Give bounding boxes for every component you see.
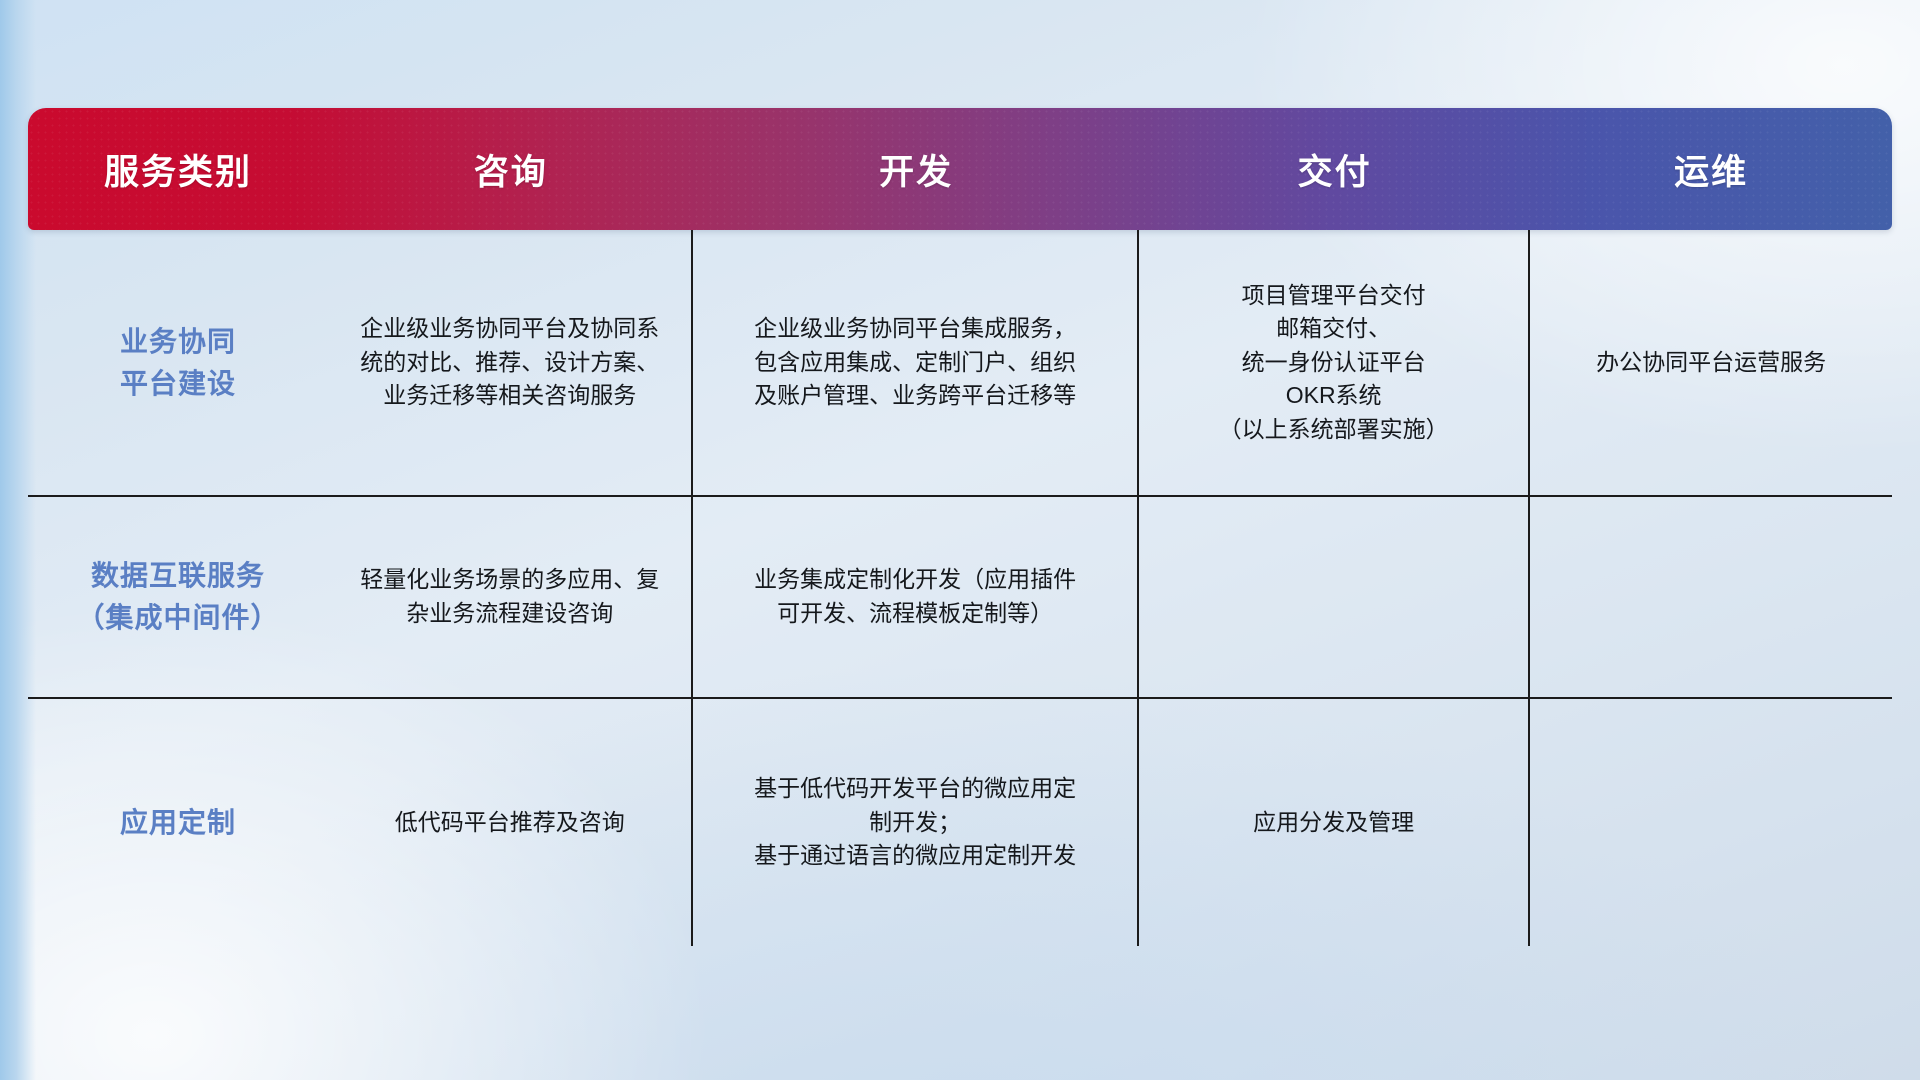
cell-development: 企业级业务协同平台集成服务， 包含应用集成、定制门户、组织 及账户管理、业务跨平… [693,230,1138,495]
cell-consulting: 低代码平台推荐及咨询 [328,699,693,946]
table-body: 业务协同 平台建设 企业级业务协同平台及协同系 统的对比、推荐、设计方案、 业务… [28,230,1892,946]
cell-consulting: 企业级业务协同平台及协同系 统的对比、推荐、设计方案、 业务迁移等相关咨询服务 [328,230,693,495]
row-category-label: 应用定制 [28,699,328,946]
table-header-row: 服务类别 咨询 开发 交付 运维 [28,108,1892,230]
table-row: 数据互联服务 （集成中间件） 轻量化业务场景的多应用、复 杂业务流程建设咨询 业… [28,497,1892,699]
header-cell-service-category: 服务类别 [28,144,328,195]
header-cell-consulting: 咨询 [328,144,693,195]
cell-development: 业务集成定制化开发（应用插件 可开发、流程模板定制等） [693,497,1138,697]
cell-delivery: 应用分发及管理 [1139,699,1530,946]
cell-delivery: 项目管理平台交付 邮箱交付、 统一身份认证平台 OKR系统 （以上系统部署实施） [1139,230,1530,495]
row-category-label: 业务协同 平台建设 [28,230,328,495]
header-cell-development: 开发 [693,144,1138,195]
cell-consulting: 轻量化业务场景的多应用、复 杂业务流程建设咨询 [328,497,693,697]
table-row: 业务协同 平台建设 企业级业务协同平台及协同系 统的对比、推荐、设计方案、 业务… [28,230,1892,497]
cell-development: 基于低代码开发平台的微应用定 制开发； 基于通过语言的微应用定制开发 [693,699,1138,946]
header-cell-delivery: 交付 [1139,144,1530,195]
cell-operations [1530,699,1892,946]
row-category-label: 数据互联服务 （集成中间件） [28,497,328,697]
cell-operations [1530,497,1892,697]
cell-operations: 办公协同平台运营服务 [1530,230,1892,495]
table-row: 应用定制 低代码平台推荐及咨询 基于低代码开发平台的微应用定 制开发； 基于通过… [28,699,1892,946]
header-cell-operations: 运维 [1530,144,1892,195]
service-matrix-table: 服务类别 咨询 开发 交付 运维 业务协同 平台建设 企业级业务协同平台及协同系… [28,108,1892,952]
cell-delivery [1139,497,1530,697]
